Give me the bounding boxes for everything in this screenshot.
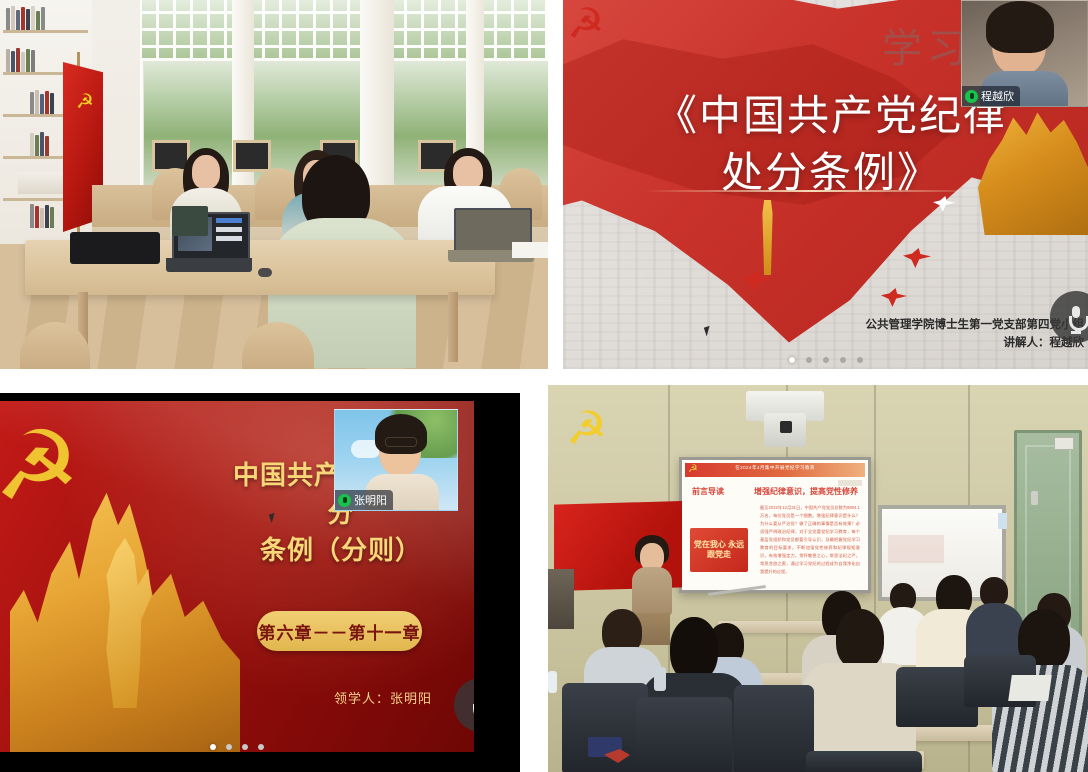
projector-lens [780,421,792,433]
laptop-bag [70,232,160,264]
microphone-icon [472,693,474,717]
hammer-sickle-icon: ☭ [688,464,699,475]
slide-presenter-label: 领学人：张明阳 [334,688,432,707]
microphone-icon [965,90,978,103]
whiteboard-label [998,513,1007,529]
pagination-dot-4[interactable] [258,744,264,750]
participant-video-tile[interactable]: 张明阳 [334,409,458,511]
slide-footer-line2: 讲解人：程越欣 [866,335,1085,353]
slide-banner-text: 在2024年4月集中开展党纪学习教育 [685,465,865,471]
slide-pagination-dots[interactable] [0,744,474,750]
paper-sheet [512,242,548,258]
pagination-dot-3[interactable] [242,744,248,750]
window-lattice [246,0,368,64]
hammer-sickle-icon: ☭ [76,92,96,114]
glow-line [643,190,983,192]
projection-screen: 在2024年4月集中开展党纪学习教育 ☭ 前言导读 增强纪律意识，提高党性修养 … [679,457,871,593]
slide-body-text: 截至2022年12月31日，中国共产党党员总数为9804.1万名，每位党员是一个… [760,504,860,576]
party-slogan-badge: 党在我心 永远跟党走 [690,528,748,572]
pagination-dot-1[interactable] [210,744,216,750]
library-meeting-photo: ☭ [0,0,548,369]
slide-title-line1: 《中国共产党纪律 [651,88,1011,145]
classroom-lecture-photo: 在2024年4月集中开展党纪学习教育 ☭ 前言导读 增强纪律意识，提高党性修养 … [548,385,1088,772]
window-lattice [388,0,474,64]
water-bottle [548,671,557,693]
tablet[interactable] [172,206,208,236]
pagination-dot-4[interactable] [840,357,846,363]
laptop[interactable] [1008,675,1052,701]
water-bottle [654,667,666,691]
slide-heading: 增强纪律意识，提高党性修养 [754,486,858,497]
wall-pillar [360,0,394,200]
slide-tag [838,480,862,486]
pagination-dot-2[interactable] [806,357,812,363]
microphone-icon [338,494,351,507]
slide-banner: 在2024年4月集中开展党纪学习教育 [685,463,865,477]
computer-mouse[interactable] [258,268,272,277]
slide-title-line2: 处分条例》 [651,145,1011,202]
participant-name: 张明阳 [354,492,387,508]
slide-pagination-dots[interactable] [563,357,1088,363]
pagination-dot-2[interactable] [226,744,232,750]
participant-video-tile[interactable]: 程越欣 [961,0,1088,107]
picture-frame [233,140,271,172]
participant-name: 程越欣 [981,88,1014,104]
whiteboard-marks [888,535,944,563]
slide-title-line2: 条例（分则） [226,532,456,570]
microphone-icon [1067,306,1085,329]
door-handle[interactable] [1031,491,1038,505]
zoom-share-slide-bottom-left: ☭ 中国共产党纪律处分 条例（分则） 第六章－－第十一章 领学人：张明阳 [0,393,520,772]
participant-name-badge: 程越欣 [962,86,1020,106]
hammer-sickle-icon: ☭ [0,419,86,519]
chapter-range-pill: 第六章－－第十一章 [257,611,422,651]
hammer-sickle-icon: ☭ [566,405,612,453]
window-lattice [140,0,244,64]
slide-title: 《中国共产党纪律 处分条例》 [651,88,1011,201]
zoom-share-slide-top-right: ☭ 学习贯彻 《中国共产党纪律 处分条例》 公共管理学院博士生第一党支部第四党小… [563,0,1088,369]
slide-section-label: 前言导读 [692,486,724,497]
door-sign [1054,437,1074,450]
window-lattice [478,0,548,64]
lectern [548,569,574,629]
hammer-sickle-icon: ☭ [567,2,613,48]
participant-name-badge: 张明阳 [335,490,393,510]
collage-canvas: ☭ [0,0,1088,772]
slide-surface: ☭ 学习贯彻 《中国共产党纪律 处分条例》 公共管理学院博士生第一党支部第四党小… [563,0,1088,369]
pagination-dot-1[interactable] [789,357,795,363]
pagination-dot-5[interactable] [857,357,863,363]
pagination-dot-3[interactable] [823,357,829,363]
slide-surface: ☭ 中国共产党纪律处分 条例（分则） 第六章－－第十一章 领学人：张明阳 [0,401,474,752]
